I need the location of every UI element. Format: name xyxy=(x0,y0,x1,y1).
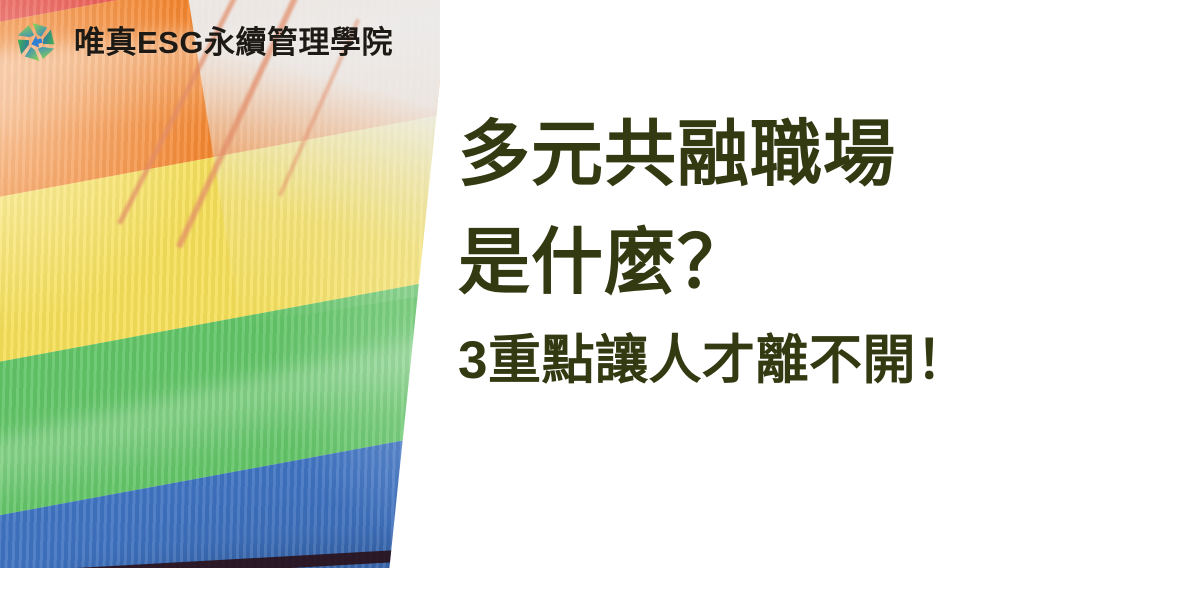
brand-name: 唯真ESG永續管理學院 xyxy=(74,27,393,58)
rainbow-pride-flag-photo xyxy=(0,0,440,568)
headline-line-2: 是什麼？ xyxy=(458,220,1158,306)
headline-line-1: 多元共融職場 xyxy=(458,112,1158,198)
bottom-color-bars xyxy=(0,568,1200,600)
bottom-bar-blue xyxy=(0,568,600,600)
headline-line-3: 3重點讓人才離不開！ xyxy=(458,330,1158,392)
promo-banner: 唯真ESG永續管理學院 多元共融職場 是什麼？ 3重點讓人才離不開！ xyxy=(0,0,1200,600)
flag-stripes xyxy=(0,0,440,568)
recycle-pinwheel-icon xyxy=(8,14,64,70)
headline-block: 多元共融職場 是什麼？ 3重點讓人才離不開！ xyxy=(458,112,1158,392)
bottom-bar-green xyxy=(600,568,1200,600)
brand-header: 唯真ESG永續管理學院 xyxy=(8,14,393,70)
